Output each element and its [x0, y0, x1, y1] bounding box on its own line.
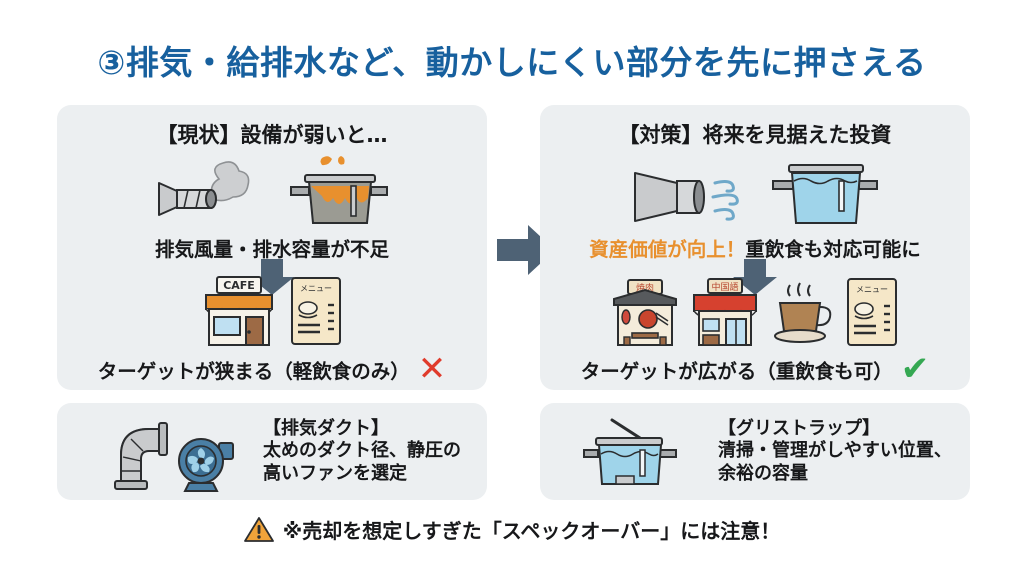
- trap-card-text: 【グリストラップ】 清掃・管理がしやすい位置、 余裕の容量: [718, 418, 952, 486]
- svg-text:メニュー: メニュー: [300, 284, 332, 293]
- duct-card-line2: 太めのダクト径、静圧の: [263, 440, 461, 463]
- panel-measure: 【対策】将来を見据えた投資: [540, 105, 970, 390]
- measure-result-row: ターゲットが広がる（重飲食も可） ✔: [540, 352, 970, 386]
- menu-sheet-icon: メニュー: [288, 275, 344, 347]
- green-check-icon: ✔: [901, 352, 930, 386]
- measure-result-text: ターゲットが広がる（重飲食も可）: [581, 355, 893, 384]
- duct-card-text: 【排気ダクト】 太めのダクト径、静圧の 高いファンを選定: [263, 418, 461, 486]
- yakiniku-shop-icon: 焼肉: [610, 277, 680, 347]
- cafe-shop-icon: CAFE: [200, 275, 278, 347]
- svg-text:メニュー: メニュー: [856, 285, 888, 294]
- trap-card-icons: [582, 416, 678, 488]
- exhaust-duct-airflow-icon: [631, 159, 755, 229]
- duct-card-line1: 【排気ダクト】: [263, 418, 461, 441]
- trap-card-line2: 清掃・管理がしやすい位置、: [718, 440, 952, 463]
- blower-fan-icon: [173, 431, 239, 493]
- panel-current-state: 【現状】設備が弱いと…: [57, 105, 487, 390]
- current-icon-row: [57, 153, 487, 229]
- page-title: ③排気・給排水など、動かしにくい部分を先に押さえる: [0, 36, 1024, 84]
- duct-card-icons: [101, 411, 239, 493]
- clean-grease-trap-icon: [771, 159, 879, 229]
- card-exhaust-duct: 【排気ダクト】 太めのダクト径、静圧の 高いファンを選定: [57, 403, 487, 500]
- footer-note-text: ※売却を想定しすぎた「スペックオーバー」には注意！: [283, 515, 780, 544]
- current-result-text: ターゲットが狭まる（軽飲食のみ）: [98, 355, 410, 384]
- svg-text:CAFE: CAFE: [223, 279, 255, 292]
- measure-caption-highlight: 資産価値が向上！: [589, 238, 745, 261]
- panel-measure-heading: 【対策】将来を見据えた投資: [540, 119, 970, 149]
- svg-text:中国語: 中国語: [711, 281, 738, 293]
- measure-icon-row: [540, 153, 970, 229]
- menu-sheet-icon: メニュー: [844, 277, 900, 347]
- warning-triangle-icon: [244, 516, 274, 543]
- card-grease-trap: 【グリストラップ】 清掃・管理がしやすい位置、 余裕の容量: [540, 403, 970, 500]
- coffee-cup-icon: [770, 277, 834, 347]
- trap-card-line1: 【グリストラップ】: [718, 418, 952, 441]
- trap-card-line3: 余裕の容量: [718, 463, 952, 486]
- duct-card-line3: 高いファンを選定: [263, 463, 461, 486]
- footer-note-row: ※売却を想定しすぎた「スペックオーバー」には注意！: [0, 515, 1024, 544]
- exhaust-duct-smoke-icon: [155, 159, 267, 229]
- slide-root: ③排気・給排水など、動かしにくい部分を先に押さえる 【現状】設備が弱いと…: [0, 0, 1024, 580]
- panel-current-heading: 【現状】設備が弱いと…: [57, 119, 487, 149]
- current-result-icon-row: CAFE メニュー: [57, 275, 487, 347]
- red-cross-icon: ✕: [418, 352, 447, 386]
- grease-trap-icon: [582, 416, 678, 488]
- measure-result-icon-row: 焼肉 中国語: [540, 275, 970, 347]
- duct-elbow-icon: [101, 411, 171, 493]
- dirty-grease-trap-icon: [289, 153, 389, 229]
- chinese-restaurant-icon: 中国語: [690, 277, 760, 347]
- current-result-row: ターゲットが狭まる（軽飲食のみ） ✕: [57, 352, 487, 386]
